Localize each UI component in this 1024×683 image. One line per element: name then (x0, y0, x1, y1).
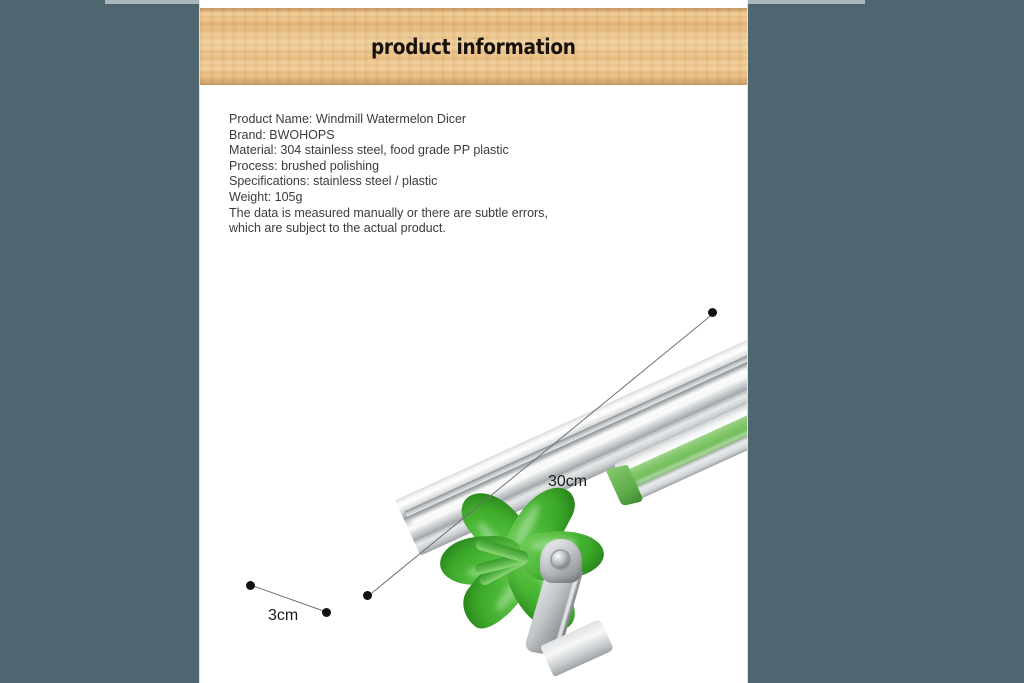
spec-product-name: Product Name: Windmill Watermelon Dicer (229, 112, 659, 128)
width-dimension-endpoint (322, 608, 331, 617)
spec-process: Process: brushed polishing (229, 159, 659, 175)
length-dimension-endpoint (708, 308, 717, 317)
spec-material: Material: 304 stainless steel, food grad… (229, 143, 659, 159)
windmill-pinwheel-assembly (432, 453, 632, 643)
screenshot-viewport: product information Product Name: Windmi… (0, 0, 1024, 683)
width-dimension-endpoint (246, 581, 255, 590)
pinwheel-hub (540, 539, 582, 583)
spec-weight: Weight: 105g (229, 190, 659, 206)
length-dimension-label: 30cm (548, 473, 587, 491)
product-information-banner: product information (200, 8, 747, 85)
product-image (200, 210, 747, 650)
spec-brand: Brand: BWOHOPS (229, 128, 659, 144)
banner-title: product information (371, 35, 576, 59)
hub-rivet (552, 551, 569, 568)
length-dimension-endpoint (363, 591, 372, 600)
spec-specifications: Specifications: stainless steel / plasti… (229, 174, 659, 190)
product-detail-page: product information Product Name: Windmi… (200, 0, 747, 683)
width-dimension-label: 3cm (268, 607, 298, 625)
